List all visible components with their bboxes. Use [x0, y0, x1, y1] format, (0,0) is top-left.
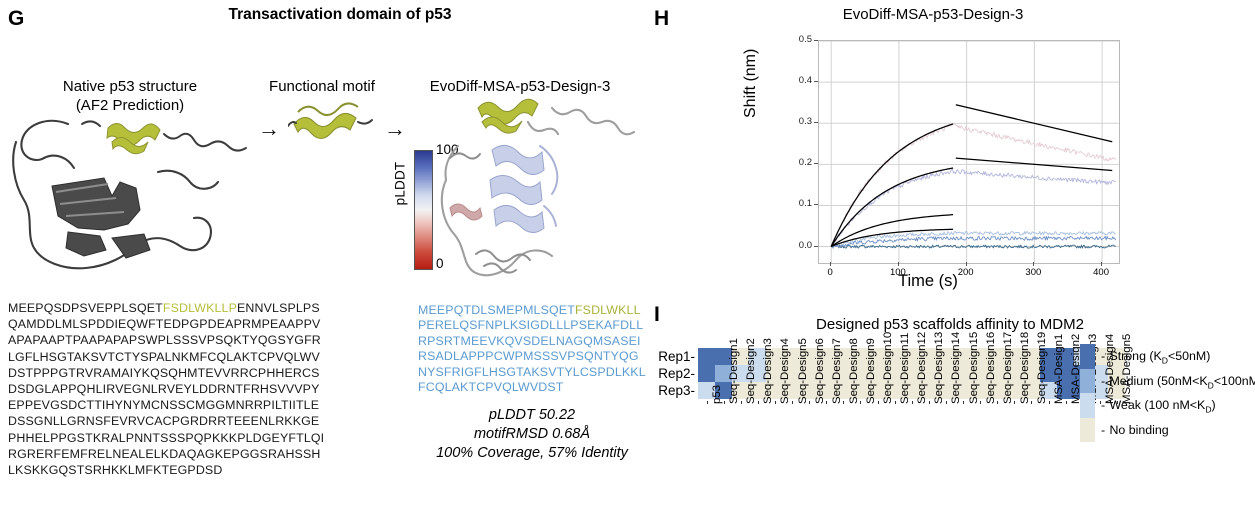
design-seq-motif: FSDLWKLL	[575, 303, 641, 317]
y-tick-label: 0.1	[786, 198, 812, 209]
arrow-right-icon-1: →	[258, 118, 280, 140]
heatmap-column-label: Seq-Design3	[762, 338, 774, 404]
heatmap-column-label: Seq-Design7	[831, 338, 843, 404]
panel-h-title: EvoDiff-MSA-p53-Design-3	[738, 6, 1128, 23]
panel-i-title: Designed p53 scaffolds affinity to MDM2	[710, 316, 1190, 333]
heatmap-column-tick	[997, 401, 998, 404]
legend-color-swatch	[1080, 393, 1095, 418]
heatmap-column-tick	[775, 401, 776, 404]
stat-coverage-identity: 100% Coverage, 57% Identity	[412, 444, 652, 463]
heatmap-column-tick	[826, 401, 827, 404]
native-seq-pre: MEEPQSDPSVEPPLSQET	[8, 301, 163, 315]
functional-motif-image	[288, 96, 374, 148]
heatmap-column-tick	[929, 401, 930, 404]
x-tick-mark	[898, 262, 899, 266]
legend-color-swatch	[1080, 369, 1095, 394]
y-tick-label: 0.5	[786, 34, 812, 45]
heatmap-column-label: Seq-Design8	[848, 338, 860, 404]
heatmap-column-label: Seq-Design17	[1002, 332, 1014, 404]
heatmap-column-label: p53	[711, 385, 723, 404]
legend-label: - No binding	[1101, 423, 1169, 437]
heatmap-column-tick	[946, 401, 947, 404]
panel-g-title: Transactivation domain of p53	[60, 6, 620, 24]
design-sequence: MEEPQTDLSMEPMLSQETFSDLWKLLPERELQSFNPLKSI…	[418, 303, 646, 395]
legend-color-swatch	[1080, 418, 1095, 443]
y-tick-label: 0.0	[786, 240, 812, 251]
heatmap-column-tick	[758, 401, 759, 404]
heatmap-column-label: Seq-Design9	[865, 338, 877, 404]
heatmap-column-tick	[1031, 401, 1032, 404]
heatmap-column-label: Seq-Design1	[728, 338, 740, 404]
heatmap-column-tick	[843, 401, 844, 404]
legend-label: - Strong (KD<50nM)	[1101, 349, 1210, 365]
heatmap-column-label: Seq-Design19	[1036, 332, 1048, 404]
heatmap-column-tick	[1049, 401, 1050, 404]
heatmap-column-tick	[792, 401, 793, 404]
heatmap-column-label: Seq-Design15	[968, 332, 980, 404]
plddt-colorbar-label: pLDDT	[392, 162, 407, 206]
design-seq-pre: MEEPQTDLSMEPMLSQET	[418, 303, 575, 317]
heatmap-column-tick	[707, 401, 708, 404]
heatmap-column-tick	[1066, 401, 1067, 404]
heatmap-column-tick	[963, 401, 964, 404]
label-functional-motif: Functional motif	[252, 78, 392, 97]
arrow-right-icon-2: →	[384, 118, 406, 140]
y-tick-label: 0.4	[786, 75, 812, 86]
stat-motif-rmsd: motifRMSD 0.68Å	[412, 425, 652, 444]
heatmap-column-tick	[741, 401, 742, 404]
y-tick-label: 0.3	[786, 116, 812, 127]
y-tick-mark	[814, 122, 818, 123]
panel-h: H EvoDiff-MSA-p53-Design-3 Shift (nm) Ti…	[650, 0, 1150, 300]
design-structure-image	[432, 88, 648, 283]
stat-plddt: pLDDT 50.22	[412, 406, 652, 425]
heatmap-column-label: Seq-Design13	[933, 332, 945, 404]
legend-color-swatch	[1080, 344, 1095, 369]
heatmap-row-label: Rep3‐	[650, 382, 698, 399]
x-tick-label: 400	[1086, 267, 1116, 278]
x-tick-mark	[1101, 262, 1102, 266]
x-tick-label: 200	[951, 267, 981, 278]
heatmap-column-tick	[912, 401, 913, 404]
heatmap-column-label: MSA-Design1	[1053, 334, 1065, 404]
y-tick-label: 0.2	[786, 157, 812, 168]
panel-i: I Designed p53 scaffolds affinity to MDM…	[650, 300, 1255, 507]
x-tick-mark	[1033, 262, 1034, 266]
panel-g: G Transactivation domain of p53 Native p…	[0, 0, 650, 507]
heatmap-cell	[698, 348, 715, 365]
heatmap-column-label: Seq-Design6	[814, 338, 826, 404]
y-axis-label: Shift (nm)	[742, 49, 760, 118]
legend-label: - Medium (50nM<KD<100nM)	[1101, 374, 1255, 390]
heatmap-column-label: Seq-Design18	[1019, 332, 1031, 404]
x-tick-mark	[830, 262, 831, 266]
heatmap-column-label: Seq-Design2	[745, 338, 757, 404]
heatmap-row-label: Rep2‐	[650, 365, 698, 382]
design-stats: pLDDT 50.22 motifRMSD 0.68Å 100% Coverag…	[412, 406, 652, 463]
panel-h-letter: H	[654, 8, 669, 29]
native-seq-post: ENNVLSPLPSQAMDDLMLSPDDIEQWFTEDPGPDEAPRMP…	[8, 301, 324, 477]
design-seq-post: PERELQSFNPLKSIGDLLLPSEKAFDLLRPSRTMEEVKQV…	[418, 318, 646, 394]
heatmap-column-label: Seq-Design5	[797, 338, 809, 404]
heatmap-column-tick	[809, 401, 810, 404]
heatmap-column-tick	[724, 401, 725, 404]
heatmap-column-label: Seq-Design12	[916, 332, 928, 404]
heatmap-column-tick	[1014, 401, 1015, 404]
heatmap-column-label: MSA-Design4	[1104, 334, 1116, 404]
x-tick-label: 100	[883, 267, 913, 278]
heatmap-row-label: Rep1‐	[650, 348, 698, 365]
heatmap-column-label: Seq-Design16	[985, 332, 997, 404]
heatmap-column-label: Seq-Design11	[899, 333, 911, 404]
native-seq-motif: FSDLWKLLP	[163, 301, 237, 315]
x-tick-label: 300	[1018, 267, 1048, 278]
y-tick-mark	[814, 81, 818, 82]
heatmap-column-label: Seq-Design14	[950, 332, 962, 404]
y-tick-mark	[814, 204, 818, 205]
sensorgram-curves	[819, 41, 1119, 263]
x-tick-label: 0	[815, 267, 845, 278]
legend-label: - Weak (100 nM<KD)	[1101, 398, 1216, 414]
panel-i-letter: I	[654, 304, 660, 325]
heatmap-legend-bar	[1080, 344, 1095, 442]
heatmap-cell	[698, 365, 715, 382]
plddt-colorbar-gradient	[414, 150, 433, 270]
heatmap-column-tick	[980, 401, 981, 404]
y-tick-mark	[814, 163, 818, 164]
heatmap-column-label: Seq-Design10	[882, 332, 894, 404]
native-p53-sequence: MEEPQSDPSVEPPLSQETFSDLWKLLPENNVLSPLPSQAM…	[8, 300, 326, 478]
heatmap-row-labels: Rep1‐Rep2‐Rep3‐	[650, 348, 698, 399]
bli-sensorgram-plot: 0.0 nM15.8 nM50.0 nM158.1 nM500.0 nM	[818, 40, 1120, 264]
panel-g-letter: G	[8, 8, 24, 29]
heatmap-column-label: Seq-Design4	[779, 338, 791, 404]
label-native-structure: Native p53 structure(AF2 Prediction)	[30, 78, 230, 116]
native-p53-structure-image	[8, 112, 248, 287]
heatmap-column-tick	[860, 401, 861, 404]
heatmap-column-label: MSA-Design5	[1121, 334, 1133, 404]
heatmap-column-tick	[895, 401, 896, 404]
x-tick-mark	[966, 262, 967, 266]
y-tick-mark	[814, 246, 818, 247]
y-tick-mark	[814, 40, 818, 41]
heatmap-column-tick	[878, 401, 879, 404]
